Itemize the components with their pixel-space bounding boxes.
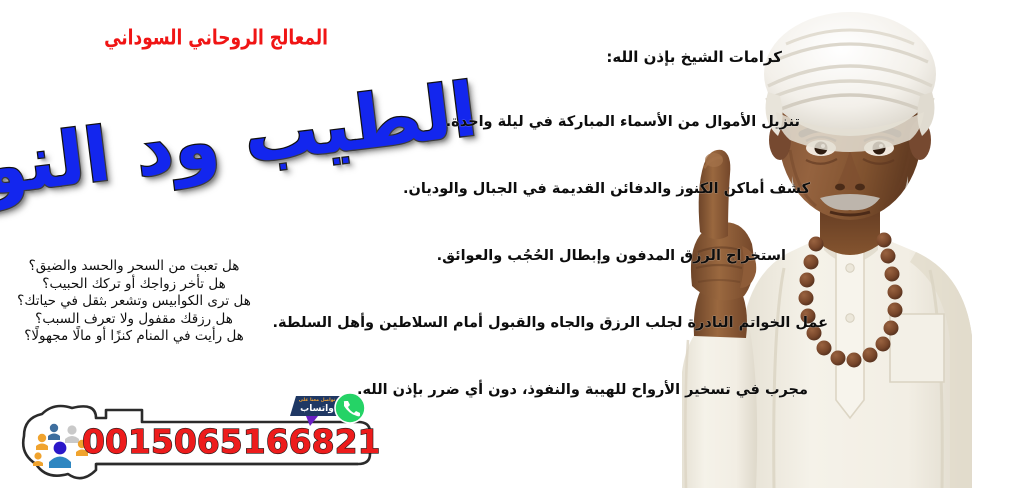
- neck: [820, 196, 880, 255]
- service-item: كشف أماكن الكنوز والدفائن القديمة في الج…: [403, 181, 810, 197]
- service-item: تنزيل الأموال من الأسماء المباركة في ليل…: [446, 114, 800, 130]
- red-headline: المعالج الروحاني السوداني: [118, 26, 328, 51]
- service-item: عمل الخواتم النادرة لجلب الرزق والجاه وا…: [273, 315, 828, 331]
- phone-number[interactable]: 0015065166821: [82, 422, 332, 461]
- question-item: هل ترى الكوابيس وتشعر بثقل في حياتك؟: [0, 293, 268, 311]
- brand-name-wrapper: الطيب ود النور: [2, 50, 483, 226]
- jalabiya-robe: [742, 236, 972, 488]
- question-item: هل رزقك مقفول ولا تعرف السبب؟: [0, 311, 268, 329]
- prayer-beads: [799, 233, 903, 368]
- whatsapp-top-label: تواصل معنا على: [296, 398, 338, 403]
- services-heading: كرامات الشيخ بإذن الله:: [606, 48, 782, 66]
- question-item: هل تعبت من السحر والحسد والضيق؟: [0, 258, 268, 276]
- service-item: مجرب في تسخير الأرواح للهيبة والنفوذ، دو…: [357, 382, 808, 398]
- brand-name: الطيب ود النور: [2, 50, 483, 226]
- poster-banner: المعالج الروحاني السوداني الطيب ود النور…: [0, 0, 1024, 488]
- turban: [764, 12, 936, 152]
- question-item: هل رأيت في المنام كنزًا أو مالًا مجهولًا…: [0, 328, 268, 346]
- service-item: استخراج الرزق المدفون وإبطال الحُجُب وال…: [437, 248, 786, 264]
- whatsapp-label: واتساب: [294, 404, 340, 414]
- sheikh-portrait: [664, 0, 1024, 488]
- question-list: هل تعبت من السحر والحسد والضيق؟ هل تأخر …: [0, 258, 268, 346]
- face: [769, 44, 931, 256]
- question-item: هل تأخر زواجك أو تركك الحبيب؟: [0, 276, 268, 294]
